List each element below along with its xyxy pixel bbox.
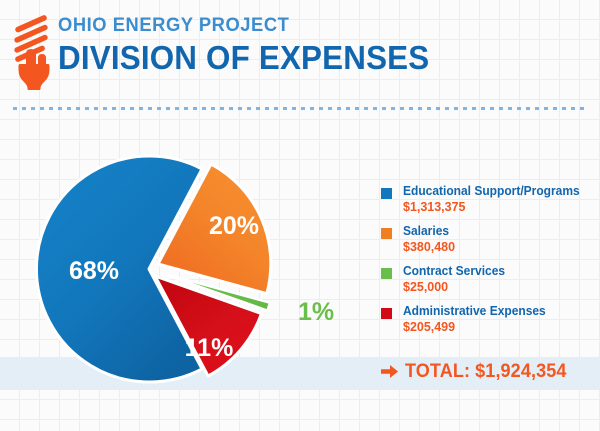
header-divider (13, 107, 588, 110)
cfl-light-bulb-icon (12, 14, 56, 90)
pie-label-administrative-expenses: 11% (185, 334, 234, 362)
title-block: OHIO ENERGY PROJECT DIVISION OF EXPENSES (58, 16, 449, 74)
page-title: DIVISION OF EXPENSES (58, 41, 429, 74)
legend-item-educational-support[interactable]: Educational Support/Programs $1,313,375 (381, 184, 596, 215)
total-row: TOTAL: $1,924,354 (381, 362, 575, 381)
legend-swatch-educational-support (381, 188, 392, 199)
pie-chart-svg: 68% 20% 1% 11% (16, 124, 366, 404)
right-arrow-icon (381, 364, 398, 379)
legend-swatch-contract-services (381, 268, 392, 279)
pie-label-contract-services: 1% (298, 298, 334, 326)
eyebrow-title: OHIO ENERGY PROJECT (58, 16, 425, 36)
pie-chart: 68% 20% 1% 11% (16, 124, 366, 404)
legend-value-administrative-expenses: $205,499 (403, 319, 588, 335)
chart-legend: Educational Support/Programs $1,313,375 … (381, 184, 596, 344)
pie-label-salaries: 20% (209, 212, 259, 240)
legend-item-contract-services[interactable]: Contract Services $25,000 (381, 264, 596, 295)
infographic-page: OHIO ENERGY PROJECT DIVISION OF EXPENSES (0, 0, 600, 431)
header: OHIO ENERGY PROJECT DIVISION OF EXPENSES (0, 0, 600, 108)
total-amount: TOTAL: $1,924,354 (405, 362, 566, 381)
legend-item-administrative-expenses[interactable]: Administrative Expenses $205,499 (381, 304, 596, 335)
legend-value-salaries: $380,480 (403, 239, 588, 255)
legend-value-contract-services: $25,000 (403, 279, 588, 295)
pie-label-educational-support: 68% (69, 257, 119, 285)
legend-swatch-salaries (381, 228, 392, 239)
legend-value-educational-support: $1,313,375 (403, 199, 588, 215)
legend-label-contract-services: Contract Services (403, 264, 588, 279)
legend-label-salaries: Salaries (403, 224, 588, 239)
legend-label-educational-support: Educational Support/Programs (403, 184, 588, 199)
legend-swatch-administrative-expenses (381, 308, 392, 319)
legend-item-salaries[interactable]: Salaries $380,480 (381, 224, 596, 255)
legend-label-administrative-expenses: Administrative Expenses (403, 304, 588, 319)
